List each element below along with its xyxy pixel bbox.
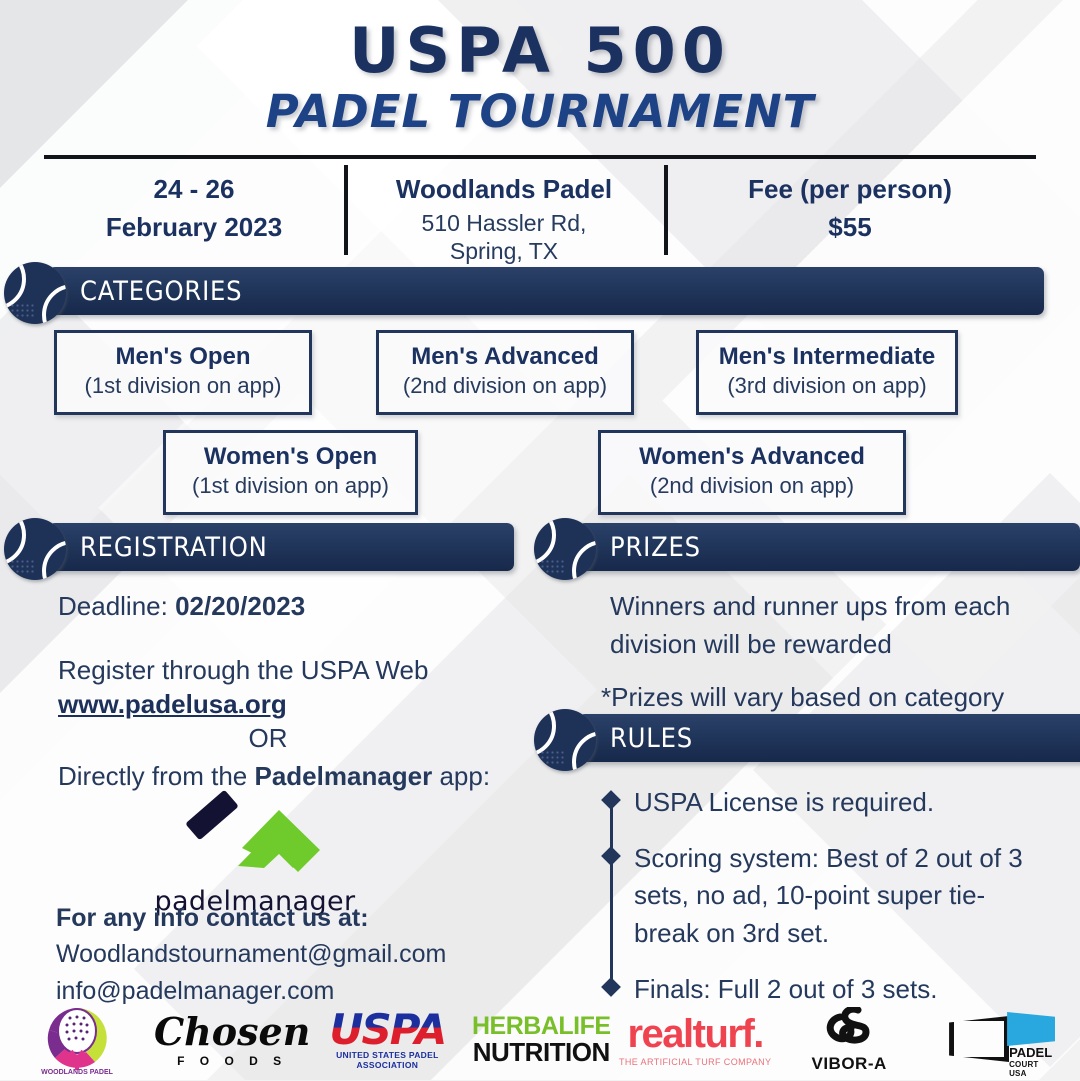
info-column-venue: Woodlands Padel 510 Hassler Rd, Spring, … — [344, 171, 664, 266]
register-instruction: Register through the USPA Web — [58, 652, 508, 690]
prizes-line-1: Winners and runner ups from each — [610, 588, 1050, 626]
woodlands-padel-logo-icon: WOODLANDS PADEL — [31, 1004, 123, 1076]
event-info-bar: 24 - 26 February 2023 Woodlands Padel 51… — [44, 155, 1036, 266]
info-bar-top-rule — [44, 155, 1036, 159]
fee-amount: $55 — [670, 209, 1030, 247]
chosen-foods-logo-icon: Chosen F O O D S — [154, 1013, 310, 1068]
chosen-subtext: F O O D S — [154, 1054, 310, 1068]
prizes-line-2: division will be rewarded — [610, 626, 1050, 664]
rules-header-bar: RULES — [578, 714, 1080, 762]
chosen-wordmark: Chosen — [154, 1013, 310, 1051]
sponsor-woodlands-padel: WOODLANDS PADEL — [0, 1000, 154, 1080]
sponsor-herbalife: HERBALIFE NUTRITION — [464, 1000, 618, 1080]
registration-header-label: REGISTRATION — [80, 532, 268, 563]
category-card-womens-open[interactable]: Women's Open (1st division on app) — [163, 430, 418, 515]
prizes-section-header: PRIZES — [534, 518, 1054, 578]
deadline-line: Deadline: 02/20/2023 — [58, 588, 508, 626]
rule-item: Scoring system: Best of 2 out of 3 sets,… — [604, 840, 1044, 953]
herbalife-subtext: NUTRITION — [472, 1039, 611, 1066]
court-filled-shape — [1007, 1012, 1055, 1046]
app-instruction-post: app: — [432, 761, 490, 791]
sponsor-padel-court-usa: PADEL COURT USA — [926, 1000, 1080, 1080]
sponsor-realturf: realturf. THE ARTIFICIAL TURF COMPANY — [618, 1000, 772, 1080]
prizes-header-bar: PRIZES — [578, 523, 1080, 571]
realturf-wordmark: realturf. — [619, 1014, 771, 1054]
diamond-bullet-icon — [601, 846, 621, 866]
app-instruction-pre: Directly from the — [58, 761, 255, 791]
padelusa-link[interactable]: www.padelusa.org — [58, 689, 287, 719]
sponsor-strip: WOODLANDS PADEL Chosen F O O D S USPA UN… — [0, 1000, 1080, 1080]
realturf-subtext: THE ARTIFICIAL TURF COMPANY — [619, 1057, 771, 1067]
category-title: Women's Open — [176, 442, 405, 472]
event-dates-day: 24 - 26 — [50, 171, 338, 209]
fee-label: Fee (per person) — [670, 171, 1030, 209]
category-title: Men's Intermediate — [709, 342, 945, 372]
sponsor-uspa: USPA UNITED STATES PADEL ASSOCIATION — [310, 1000, 464, 1080]
registration-body: Deadline: 02/20/2023 Register through th… — [58, 588, 508, 796]
info-column-dates: 24 - 26 February 2023 — [44, 171, 344, 266]
contact-heading: For any info contact us at: — [56, 900, 526, 936]
rule-item: USPA License is required. — [604, 784, 1044, 822]
category-title: Men's Advanced — [389, 342, 621, 372]
categories-header-label: CATEGORIES — [80, 276, 242, 307]
realturf-logo-icon: realturf. THE ARTIFICIAL TURF COMPANY — [619, 1014, 771, 1067]
category-card-mens-open[interactable]: Men's Open (1st division on app) — [54, 330, 312, 415]
or-separator: OR — [58, 720, 478, 758]
uspa-wordmark: USPA — [310, 1010, 464, 1050]
app-instruction-brand: Padelmanager — [255, 761, 433, 791]
registration-section-header: REGISTRATION — [4, 518, 524, 578]
diamond-bullet-icon — [601, 977, 621, 997]
padel-court-usa-logo-icon: PADEL COURT USA — [949, 1010, 1057, 1070]
contact-block: For any info contact us at: Woodlandstou… — [56, 900, 526, 1009]
registration-header-bar: REGISTRATION — [48, 523, 514, 571]
category-card-womens-advanced[interactable]: Women's Advanced (2nd division on app) — [598, 430, 906, 515]
page-title: USPA 500 — [0, 18, 1080, 83]
page-subtitle: PADEL TOURNAMENT — [0, 87, 1080, 137]
herbalife-wordmark: HERBALIFE — [472, 1014, 611, 1040]
poster-title-block: USPA 500 PADEL TOURNAMENT — [0, 18, 1080, 137]
padel-ball-icon — [4, 518, 66, 580]
prizes-body: Winners and runner ups from each divisio… — [610, 588, 1050, 717]
vibor-a-logo-icon: VIBOR-A — [812, 1007, 887, 1074]
category-subtitle: (3rd division on app) — [709, 372, 945, 401]
category-card-mens-advanced[interactable]: Men's Advanced (2nd division on app) — [376, 330, 634, 415]
venue-street: 510 Hassler Rd, — [350, 209, 658, 238]
info-column-fee: Fee (per person) $55 — [664, 171, 1036, 266]
uspa-logo-icon: USPA UNITED STATES PADEL ASSOCIATION — [310, 1010, 464, 1071]
category-subtitle: (1st division on app) — [67, 372, 299, 401]
rule-text: USPA License is required. — [634, 784, 1044, 822]
padel-ball-icon — [534, 709, 596, 771]
padel-court-wordmark: PADEL — [1009, 1046, 1052, 1060]
event-dates-month: February 2023 — [50, 209, 338, 247]
deadline-label: Deadline: — [58, 591, 175, 621]
padelmanager-mark-icon — [180, 788, 330, 880]
deadline-value: 02/20/2023 — [175, 591, 305, 621]
snake-icon — [818, 1007, 880, 1047]
padel-court-subtext: COURT USA — [1009, 1060, 1057, 1078]
category-title: Men's Open — [67, 342, 299, 372]
rule-text: Scoring system: Best of 2 out of 3 sets,… — [634, 840, 1044, 953]
category-subtitle: (1st division on app) — [176, 472, 405, 501]
svg-text:WOODLANDS PADEL: WOODLANDS PADEL — [41, 1069, 114, 1076]
court-outline-shape — [949, 1016, 1009, 1062]
contact-email-1[interactable]: Woodlandstournament@gmail.com — [56, 936, 526, 972]
rules-list: USPA License is required. Scoring system… — [604, 784, 1044, 1026]
padel-ball-icon — [4, 262, 66, 324]
categories-header-bar: CATEGORIES — [48, 267, 1044, 315]
venue-name: Woodlands Padel — [350, 171, 658, 209]
rules-section-header: RULES — [534, 709, 1054, 769]
sponsor-vibor-a: VIBOR-A — [772, 1000, 926, 1080]
categories-section-header: CATEGORIES — [4, 262, 1044, 322]
padel-ball-icon — [534, 518, 596, 580]
category-card-mens-intermediate[interactable]: Men's Intermediate (3rd division on app) — [696, 330, 958, 415]
info-divider-1 — [344, 165, 348, 255]
herbalife-logo-icon: HERBALIFE NUTRITION — [472, 1014, 611, 1066]
category-subtitle: (2nd division on app) — [389, 372, 621, 401]
category-title: Women's Advanced — [611, 442, 893, 472]
category-subtitle: (2nd division on app) — [611, 472, 893, 501]
sponsor-chosen-foods: Chosen F O O D S — [154, 1000, 310, 1080]
rules-header-label: RULES — [610, 723, 693, 754]
vibor-a-wordmark: VIBOR-A — [812, 1054, 887, 1074]
diamond-bullet-icon — [601, 790, 621, 810]
info-divider-2 — [664, 165, 668, 255]
padelmanager-glyph — [180, 788, 330, 880]
padelmanager-logo: padelmanager — [130, 788, 380, 917]
prizes-header-label: PRIZES — [610, 532, 701, 563]
